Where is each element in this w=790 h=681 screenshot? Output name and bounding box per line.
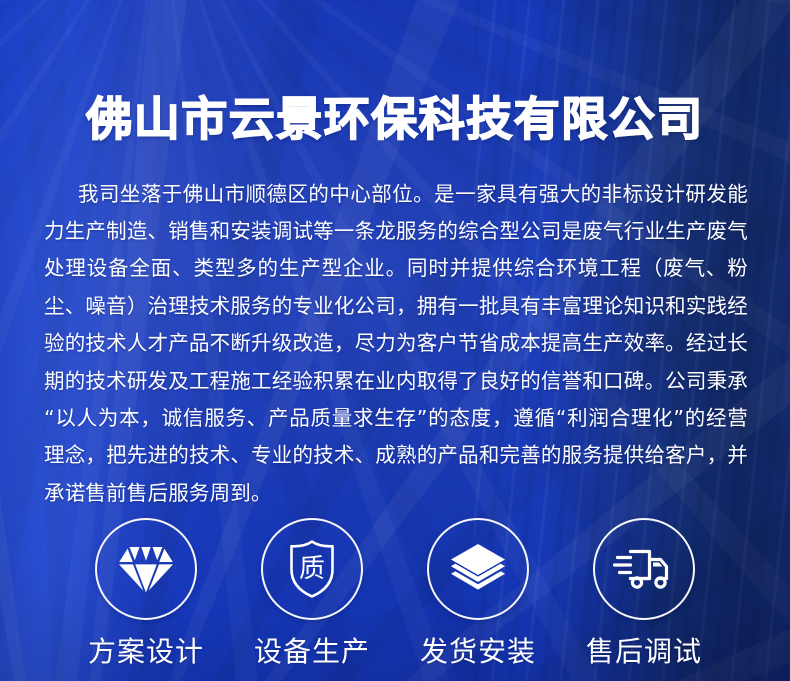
feature-circle [95,518,197,620]
feature-circle: 质 [261,518,363,620]
page-title: 佛山市云景环保科技有限公司 [0,89,790,149]
feature-item[interactable]: 发货安装 [426,518,530,669]
feature-label: 发货安装 [420,635,536,669]
feature-circle [593,518,695,620]
feature-label: 设备生产 [254,635,370,669]
banner-content: 佛山市云景环保科技有限公司 我司坐落于佛山市顺德区的中心部位。是一家具有强大的非… [0,0,790,681]
layers-stack-icon [449,542,507,596]
company-description: 我司坐落于佛山市顺德区的中心部位。是一家具有强大的非标设计研发能力生产制造、销售… [44,176,748,513]
shield-quality-char: 质 [299,554,325,584]
company-banner: 佛山市云景环保科技有限公司 我司坐落于佛山市顺德区的中心部位。是一家具有强大的非… [0,0,790,681]
feature-label: 售后调试 [586,635,702,669]
feature-row: 方案设计 质 设备生产 [0,518,790,669]
feature-label: 方案设计 [88,635,204,669]
feature-item[interactable]: 售后调试 [592,518,696,669]
delivery-truck-icon [613,545,675,593]
shield-quality-icon: 质 [285,539,339,599]
feature-item[interactable]: 方案设计 [94,518,198,669]
feature-item[interactable]: 质 设备生产 [260,518,364,669]
diamond-icon [118,543,174,595]
feature-circle [427,518,529,620]
